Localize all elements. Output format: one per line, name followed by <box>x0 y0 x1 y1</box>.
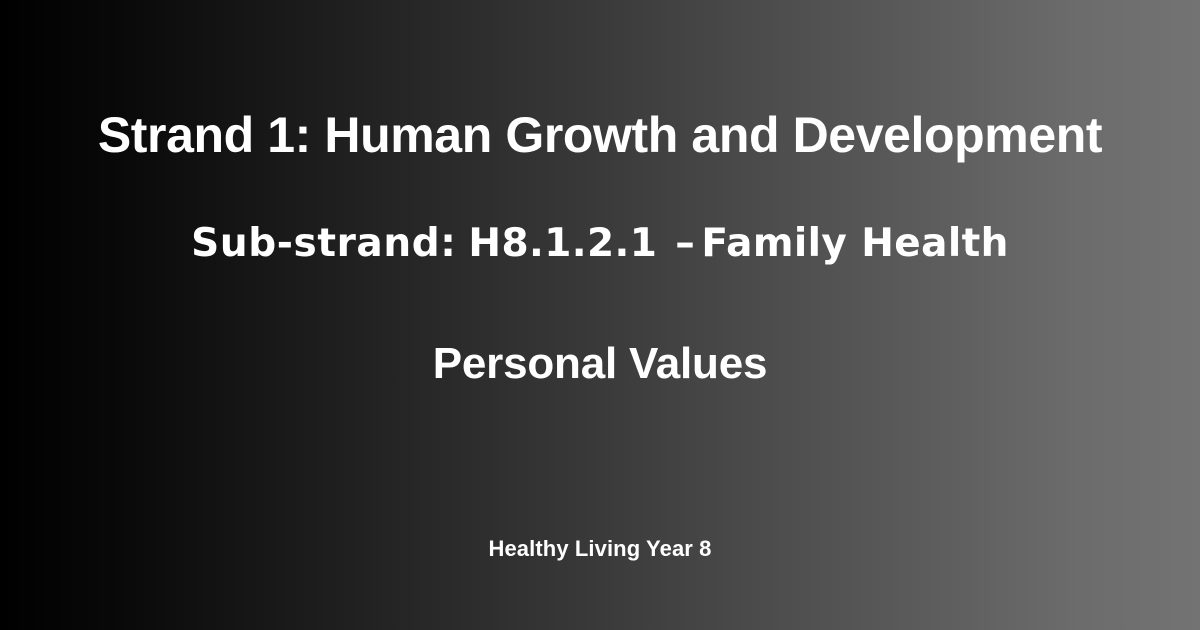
sub-strand-line: Sub-strand:H8.1.2.1–Family Health <box>0 223 1200 266</box>
sub-strand-topic: Family Health <box>701 221 1008 266</box>
sub-strand-label: Sub-strand: <box>191 221 456 266</box>
topic-title: Personal Values <box>0 340 1200 388</box>
slide-footer: Healthy Living Year 8 <box>0 537 1200 561</box>
sub-strand-code: H8.1.2.1 <box>468 221 657 266</box>
sub-strand-separator: – <box>669 223 701 266</box>
title-slide: Strand 1: Human Growth and Development S… <box>0 0 1200 630</box>
strand-title: Strand 1: Human Growth and Development <box>0 108 1200 162</box>
